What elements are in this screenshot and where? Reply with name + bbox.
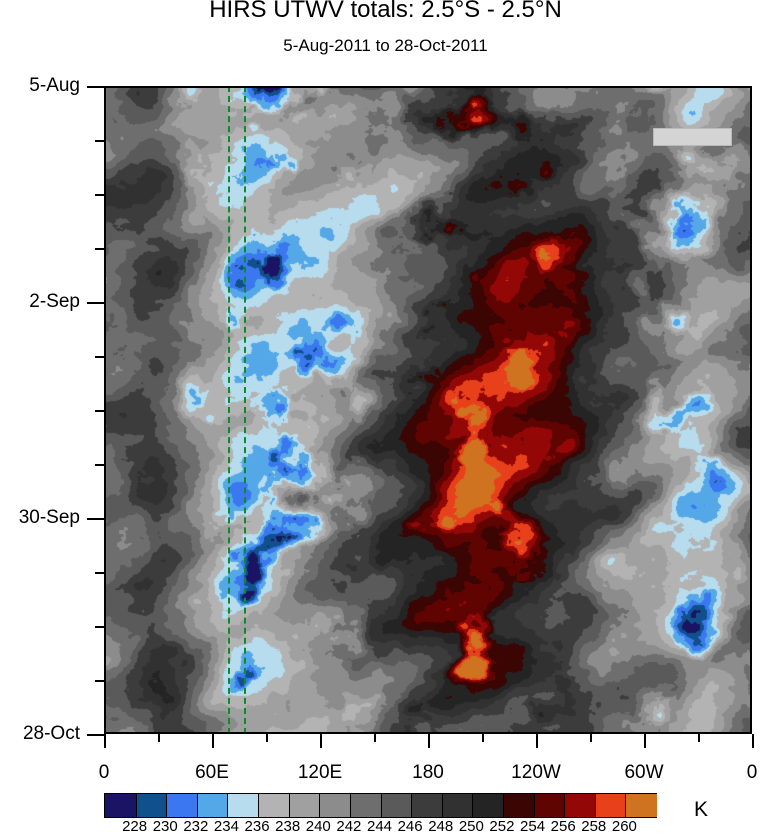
y-axis-label: 30-Sep <box>0 507 80 529</box>
colorbar-tick-label: 234 <box>214 818 239 835</box>
hovmoller-figure: HIRS UTWV totals: 2.5°S - 2.5°N 5-Aug-20… <box>0 0 771 834</box>
colorbar-segment <box>166 794 197 817</box>
colorbar-units-label: K <box>694 798 708 822</box>
x-axis-label: 180 <box>412 762 444 784</box>
colorbar-tick-label: 240 <box>306 818 331 835</box>
y-axis-label: 28-Oct <box>0 723 80 745</box>
colorbar-separator <box>411 794 412 817</box>
x-tick-major <box>536 734 538 748</box>
colorbar-tick-label: 254 <box>520 818 545 835</box>
y-tick-major <box>87 86 104 88</box>
x-tick-major <box>644 734 646 748</box>
y-tick-minor <box>95 140 104 142</box>
colorbar-segment <box>564 794 595 817</box>
x-axis-label: 120W <box>511 762 561 784</box>
colorbar-separator <box>503 794 504 817</box>
colorbar-tick-label: 230 <box>153 818 178 835</box>
y-axis-label: 5-Aug <box>0 75 80 97</box>
colorbar-segment <box>319 794 350 817</box>
colorbar-separator <box>625 794 626 817</box>
x-tick-minor <box>266 734 268 742</box>
y-tick-minor <box>95 248 104 250</box>
colorbar-separator <box>534 794 535 817</box>
colorbar-segment <box>197 794 228 817</box>
x-axis-label: 0 <box>747 762 758 784</box>
colorbar-segment <box>595 794 626 817</box>
x-tick-major <box>212 734 214 748</box>
colorbar-tick-label: 232 <box>183 818 208 835</box>
colorbar-tick-label: 258 <box>581 818 606 835</box>
colorbar-tick-label: 250 <box>459 818 484 835</box>
colorbar-separator <box>319 794 320 817</box>
green-dashed-line-west <box>228 86 230 734</box>
x-axis-label: 0 <box>99 762 110 784</box>
figure-subtitle: 5-Aug-2011 to 28-Oct-2011 <box>0 36 771 56</box>
colorbar-separator <box>595 794 596 817</box>
colorbar-tick-label: 260 <box>612 818 637 835</box>
colorbar-tick-label: 256 <box>551 818 576 835</box>
y-tick-minor <box>95 410 104 412</box>
colorbar-tick-label: 228 <box>122 818 147 835</box>
green-dashed-line-east <box>244 86 246 734</box>
colorbar-segment <box>258 794 289 817</box>
colorbar-tick-label: 244 <box>367 818 392 835</box>
x-tick-minor <box>158 734 160 742</box>
colorbar-separator <box>227 794 228 817</box>
x-tick-major <box>752 734 754 748</box>
colorbar-tick-label: 242 <box>336 818 361 835</box>
colorbar-separator <box>166 794 167 817</box>
colorbar-separator <box>381 794 382 817</box>
x-tick-minor <box>698 734 700 742</box>
colorbar-tick-label: 236 <box>245 818 270 835</box>
colorbar-segment <box>227 794 258 817</box>
colorbar-segment <box>411 794 442 817</box>
x-axis-label: 60W <box>624 762 663 784</box>
x-tick-major <box>320 734 322 748</box>
y-tick-minor <box>95 356 104 358</box>
y-tick-major <box>87 302 104 304</box>
colorbar-separator <box>442 794 443 817</box>
y-tick-minor <box>95 194 104 196</box>
colorbar-tick-label: 248 <box>428 818 453 835</box>
y-axis-label: 2-Sep <box>0 291 80 313</box>
colorbar-segment <box>381 794 412 817</box>
x-axis-label: 120E <box>298 762 342 784</box>
y-tick-minor <box>95 464 104 466</box>
colorbar-separator <box>258 794 259 817</box>
colorbar-separator <box>472 794 473 817</box>
colorbar-tick-label: 252 <box>489 818 514 835</box>
x-tick-minor <box>482 734 484 742</box>
colorbar-segment <box>472 794 503 817</box>
x-tick-major <box>428 734 430 748</box>
colorbar-segment <box>105 794 136 817</box>
x-tick-major <box>104 734 106 748</box>
y-tick-major <box>87 518 104 520</box>
heatmap-canvas <box>104 86 752 734</box>
colorbar-segment <box>442 794 473 817</box>
figure-title: HIRS UTWV totals: 2.5°S - 2.5°N <box>0 0 771 24</box>
y-tick-minor <box>95 680 104 682</box>
colorbar-segment <box>625 794 656 817</box>
colorbar-segment <box>136 794 167 817</box>
colorbar-segment <box>350 794 381 817</box>
colorbar-segment <box>534 794 565 817</box>
x-tick-minor <box>590 734 592 742</box>
plot-area <box>104 86 752 734</box>
colorbar-separator <box>136 794 137 817</box>
colorbar-separator <box>197 794 198 817</box>
x-tick-minor <box>374 734 376 742</box>
colorbar-tick-label: 246 <box>398 818 423 835</box>
gray-scale-bar <box>653 128 732 146</box>
colorbar-segment <box>289 794 320 817</box>
colorbar-separator <box>564 794 565 817</box>
colorbar <box>104 793 657 818</box>
y-tick-major <box>87 734 104 736</box>
y-tick-minor <box>95 572 104 574</box>
x-axis-label: 60E <box>195 762 229 784</box>
colorbar-separator <box>289 794 290 817</box>
y-tick-minor <box>95 626 104 628</box>
colorbar-segment <box>503 794 534 817</box>
colorbar-tick-label: 238 <box>275 818 300 835</box>
colorbar-separator <box>350 794 351 817</box>
